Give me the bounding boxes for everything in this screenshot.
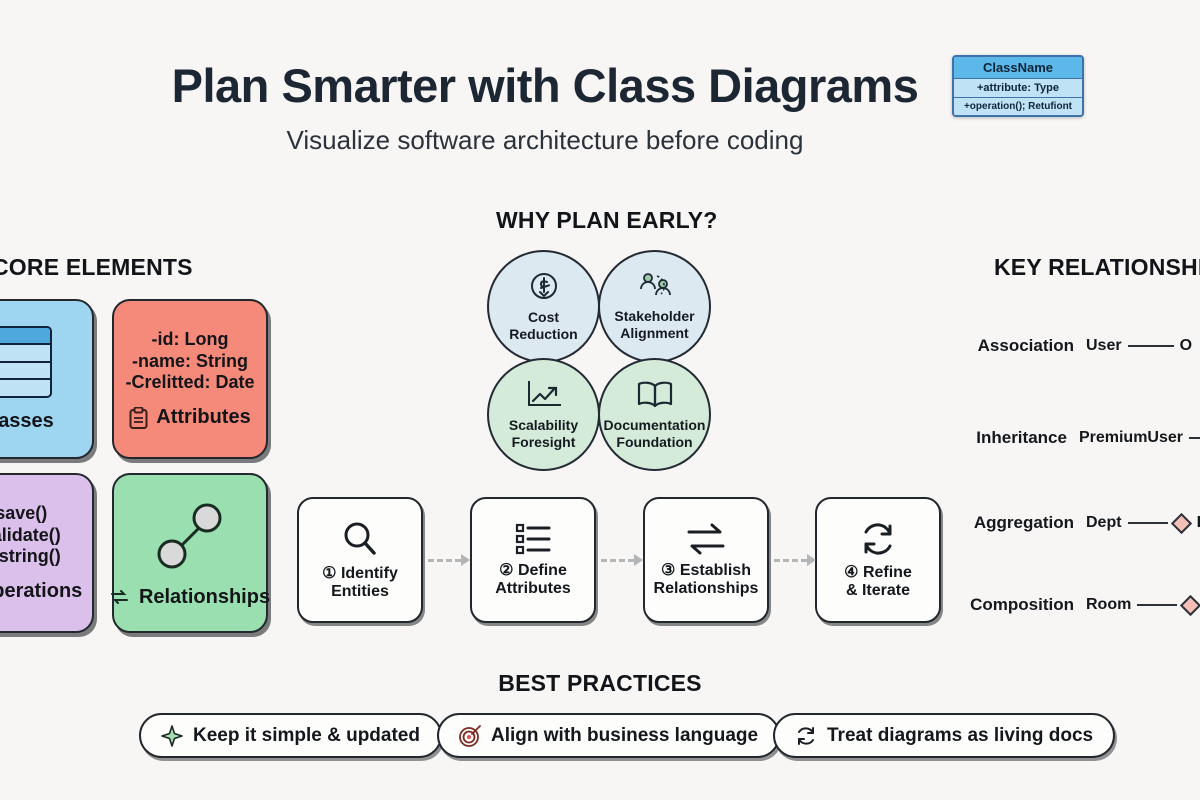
relationship-row-aggregation: Aggregation Dept E (962, 510, 1200, 536)
best-practice-label-align-business: Align with business language (491, 725, 758, 747)
attribute-line: -id: Long (125, 329, 254, 351)
process-step-2-number: ② (499, 562, 513, 579)
uml-class-badge: ClassName +attribute: Type +operation();… (952, 55, 1084, 117)
core-card-attributes[interactable]: -id: Long -name: String -Crelitted: Date… (112, 299, 268, 459)
filled-diamond-icon (1180, 594, 1200, 615)
process-step-4-line1: Refine (863, 564, 912, 581)
relationship-target-association: O (1180, 337, 1192, 355)
process-step-1-line2: Entities (331, 583, 389, 600)
uml-class-name: ClassName (954, 57, 1082, 79)
uml-attribute-row: +attribute: Type (954, 79, 1082, 98)
why-circle-cost-reduction-line1: Cost (528, 309, 559, 325)
relationship-notation-aggregation: Dept E (1086, 514, 1200, 532)
section-heading-key-relationships: KEY RELATIONSHIPS (994, 254, 1200, 281)
why-circle-documentation-foundation-line1: Documentation (604, 417, 706, 433)
process-step-4-number: ④ (844, 564, 858, 581)
core-card-operations-footer: Operations (0, 580, 82, 603)
operation-line: +validate() (0, 525, 61, 547)
why-circle-cost-reduction[interactable]: Cost Reduction (487, 250, 600, 363)
target-icon (459, 725, 481, 747)
why-circle-stakeholder-alignment-line2: Alignment (620, 325, 688, 341)
why-circle-documentation-foundation-line2: Foundation (616, 434, 692, 450)
link-nodes-icon (147, 498, 233, 574)
section-heading-why-plan-early: WHY PLAN EARLY? (496, 207, 718, 234)
relationship-row-composition: Composition Room H (962, 592, 1200, 618)
why-circle-stakeholder-alignment[interactable]: Stakeholder Alignment (598, 250, 711, 363)
relationship-row-inheritance: Inheritance PremiumUser (962, 425, 1200, 451)
process-step-3-line2: Relationships (654, 580, 759, 597)
why-circle-stakeholder-alignment-line1: Stakeholder (614, 308, 694, 324)
process-step-1-number: ① (322, 565, 336, 582)
process-step-4-text: ④ Refine & Iterate (844, 564, 912, 601)
clipboard-icon (129, 407, 148, 429)
dollar-down-icon (529, 271, 559, 304)
process-step-2-line1: Define (518, 562, 567, 579)
process-step-1-line1: Identify (341, 565, 398, 582)
relationship-label-association: Association (962, 336, 1074, 356)
why-circle-scalability-foresight[interactable]: Scalability Foresight (487, 358, 600, 471)
attribute-line: -Crelitted: Date (125, 372, 254, 394)
relationship-source-inheritance: PremiumUser (1079, 429, 1183, 447)
inheritance-line-icon (1189, 437, 1200, 440)
sparkle-icon (161, 725, 183, 747)
relationship-notation-association: User O (1086, 337, 1192, 355)
core-card-attributes-label: Attributes (156, 406, 250, 429)
aggregation-line-icon (1128, 522, 1168, 525)
process-step-3-text: ③ Establish Relationships (654, 562, 759, 599)
relationship-notation-inheritance: PremiumUser (1079, 428, 1200, 448)
why-circle-scalability-foresight-line1: Scalability (509, 417, 578, 433)
core-card-operations-lines: +save() +validate() +tostring() (0, 503, 61, 569)
why-circle-scalability-foresight-line2: Foresight (512, 434, 576, 450)
core-card-operations-label: Operations (0, 580, 82, 603)
core-card-classes-footer: Classes (0, 410, 54, 433)
process-step-4-line2: & Iterate (846, 582, 910, 599)
book-icon (635, 379, 675, 412)
people-icon (637, 272, 673, 303)
class-box-icon (0, 326, 52, 398)
process-step-3-line1: Establish (680, 562, 751, 579)
association-line-icon (1128, 345, 1174, 348)
infographic-canvas: Plan Smarter with Class Diagrams Visuali… (0, 0, 1200, 800)
core-card-classes[interactable]: Classes (0, 299, 94, 459)
process-arrow-3 (774, 554, 816, 566)
best-practice-pill-align-business[interactable]: Align with business language (437, 713, 780, 758)
process-step-2-line2: Attributes (495, 580, 571, 597)
relationship-label-composition: Composition (962, 595, 1074, 615)
core-card-classes-label: Classes (0, 410, 54, 433)
core-card-relationships-footer: Relationships (110, 586, 270, 609)
section-heading-core-elements: CORE ELEMENTS (0, 254, 193, 281)
relationship-notation-composition: Room H (1086, 596, 1200, 614)
relationship-arrows-icon (110, 590, 131, 604)
bullet-list-icon (513, 522, 553, 556)
relationship-source-association: User (1086, 337, 1122, 355)
process-step-2-text: ② Define Attributes (495, 562, 571, 599)
process-step-3-number: ③ (661, 562, 675, 579)
operation-line: +save() (0, 503, 61, 525)
best-practice-pill-keep-simple[interactable]: Keep it simple & updated (139, 713, 442, 758)
core-card-relationships-label: Relationships (139, 586, 270, 609)
why-circle-documentation-foundation[interactable]: Documentation Foundation (598, 358, 711, 471)
relationship-target-aggregation: E (1197, 514, 1200, 532)
best-practice-label-keep-simple: Keep it simple & updated (193, 725, 420, 747)
core-card-operations[interactable]: +save() +validate() +tostring() Operatio… (0, 473, 94, 633)
section-heading-best-practices: BEST PRACTICES (0, 670, 1200, 697)
page-title: Plan Smarter with Class Diagrams (0, 58, 1090, 113)
core-card-relationships[interactable]: Relationships (112, 473, 268, 633)
relationship-row-association: Association User O (962, 333, 1200, 359)
process-arrow-2 (601, 554, 643, 566)
core-card-attributes-footer: Attributes (129, 406, 250, 429)
attribute-line: -name: String (125, 351, 254, 373)
process-step-define-attributes[interactable]: ② Define Attributes (470, 497, 596, 623)
process-step-1-text: ① Identify Entities (322, 565, 398, 602)
uml-operation-row: +operation(); Retufiont (954, 98, 1082, 115)
relationship-source-aggregation: Dept (1086, 514, 1122, 532)
magnifier-icon (340, 519, 380, 559)
operation-line: +tostring() (0, 546, 61, 568)
process-step-establish-relationships[interactable]: ③ Establish Relationships (643, 497, 769, 623)
core-card-attributes-lines: -id: Long -name: String -Crelitted: Date (125, 329, 254, 395)
refresh-icon (795, 725, 817, 747)
process-step-refine-iterate[interactable]: ④ Refine & Iterate (815, 497, 941, 623)
page-subtitle: Visualize software architecture before c… (0, 125, 1090, 156)
best-practice-pill-living-docs[interactable]: Treat diagrams as living docs (773, 713, 1115, 758)
relationship-label-aggregation: Aggregation (962, 513, 1074, 533)
growth-chart-icon (525, 379, 563, 412)
composition-line-icon (1137, 604, 1177, 607)
relationship-label-inheritance: Inheritance (962, 428, 1067, 448)
process-step-identify-entities[interactable]: ① Identify Entities (297, 497, 423, 623)
refresh-icon (859, 520, 897, 558)
best-practice-label-living-docs: Treat diagrams as living docs (827, 725, 1093, 747)
why-circle-cost-reduction-line2: Reduction (509, 326, 577, 342)
exchange-arrows-icon (684, 522, 728, 556)
relationship-source-composition: Room (1086, 596, 1131, 614)
hollow-diamond-icon (1170, 512, 1191, 533)
process-arrow-1 (428, 554, 470, 566)
